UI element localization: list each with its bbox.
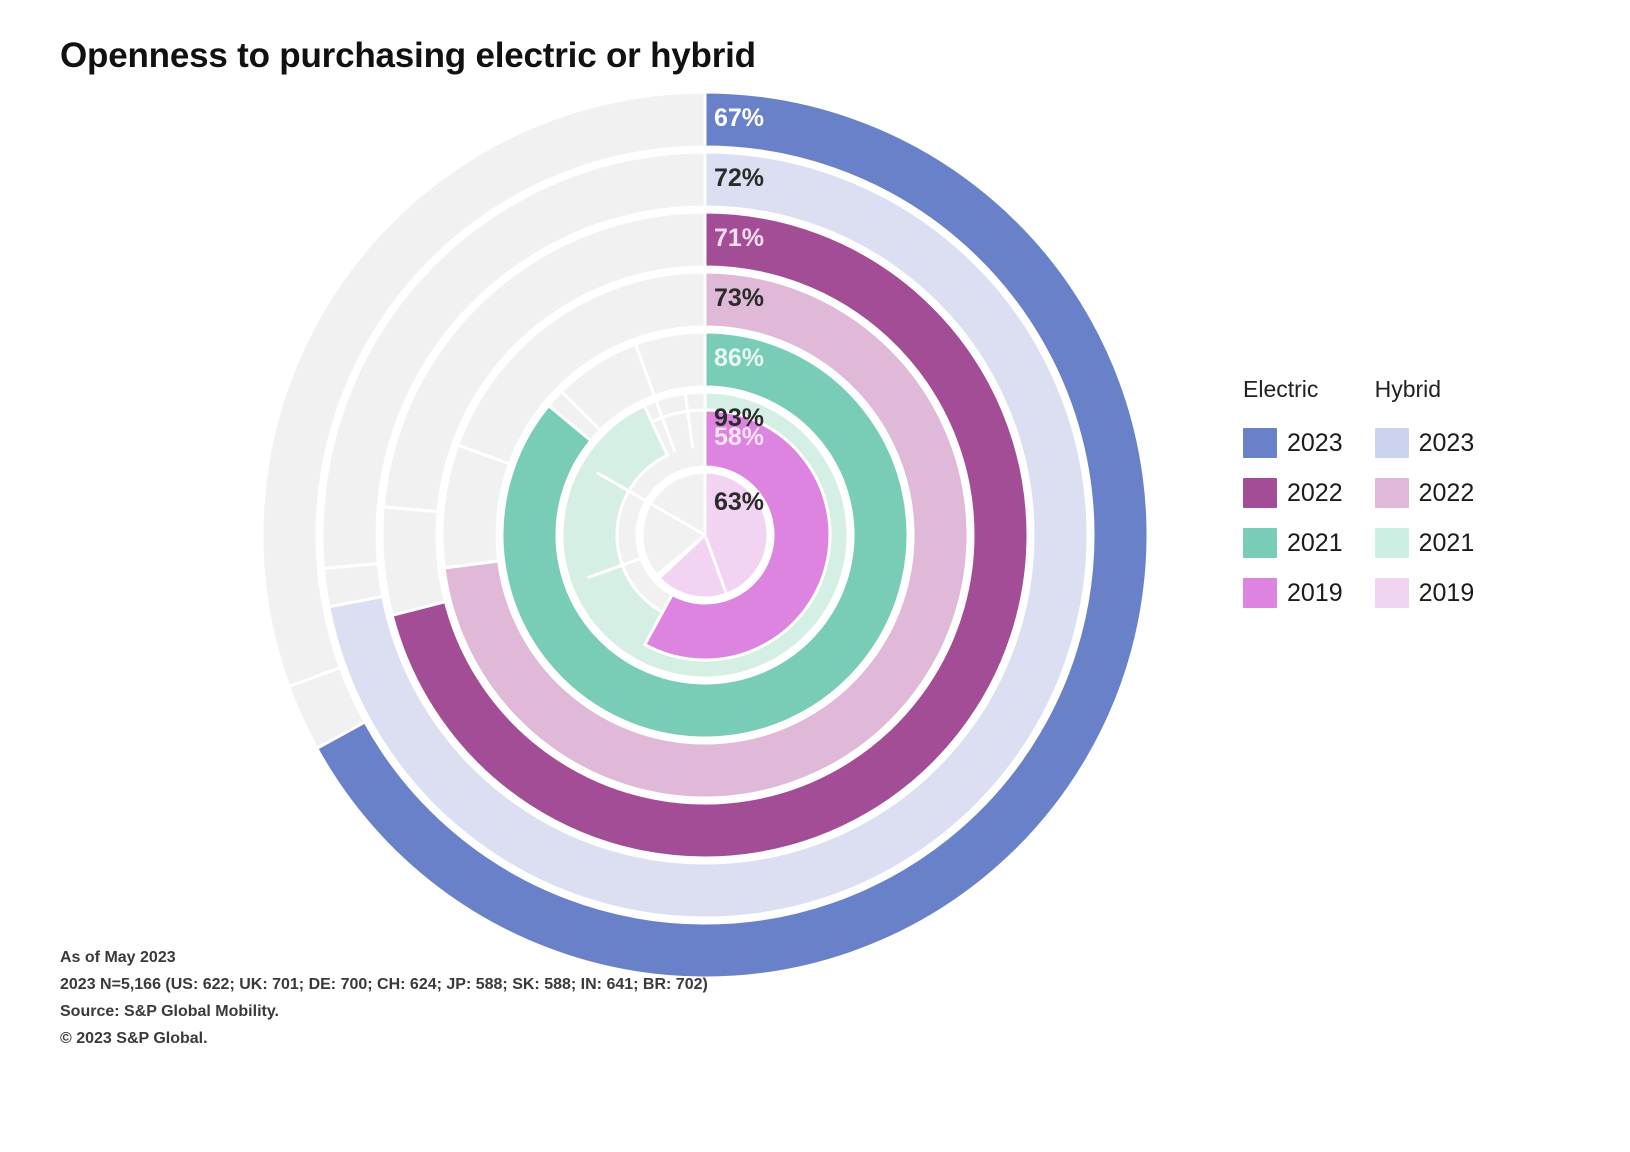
ring-data-label: 67% bbox=[714, 104, 764, 132]
legend-item[interactable]: 2021 bbox=[1375, 518, 1475, 568]
legend-item[interactable]: 2021 bbox=[1243, 518, 1343, 568]
legend-swatch-icon bbox=[1375, 528, 1409, 558]
legend-item[interactable]: 2019 bbox=[1243, 568, 1343, 618]
legend-swatch-icon bbox=[1243, 528, 1277, 558]
footnote-line: 2023 N=5,166 (US: 622; UK: 701; DE: 700;… bbox=[60, 971, 1020, 998]
legend-item-label: 2023 bbox=[1287, 429, 1343, 458]
legend-item[interactable]: 2022 bbox=[1243, 468, 1343, 518]
footnote-line: © 2023 S&P Global. bbox=[60, 1025, 1020, 1052]
legend-swatch-icon bbox=[1375, 428, 1409, 458]
footnote-line: As of May 2023 bbox=[60, 944, 1020, 971]
legend-swatch-icon bbox=[1243, 578, 1277, 608]
legend-item[interactable]: 2022 bbox=[1375, 468, 1475, 518]
legend-item-label: 2022 bbox=[1287, 479, 1343, 508]
footnote-line: Source: S&P Global Mobility. bbox=[60, 998, 1020, 1025]
legend-item-label: 2021 bbox=[1287, 529, 1343, 558]
legend-item-label: 2023 bbox=[1419, 429, 1475, 458]
legend: Electric2023202220212019Hybrid2023202220… bbox=[1243, 376, 1543, 618]
legend-item[interactable]: 2023 bbox=[1243, 418, 1343, 468]
legend-column-electric: Electric2023202220212019 bbox=[1243, 376, 1343, 618]
legend-swatch-icon bbox=[1375, 578, 1409, 608]
ring-data-label: 71% bbox=[714, 224, 764, 252]
legend-swatch-icon bbox=[1375, 478, 1409, 508]
legend-item-label: 2019 bbox=[1419, 579, 1475, 608]
legend-heading: Electric bbox=[1243, 376, 1343, 402]
footnotes: As of May 20232023 N=5,166 (US: 622; UK:… bbox=[60, 944, 1020, 1052]
radial-chart-svg: 67%72%71%73%86%93%58%63% bbox=[255, 85, 1155, 985]
ring-data-label: 86% bbox=[714, 344, 764, 372]
ring-data-label: 63% bbox=[714, 488, 764, 516]
legend-item-label: 2021 bbox=[1419, 529, 1475, 558]
legend-swatch-icon bbox=[1243, 478, 1277, 508]
legend-column-hybrid: Hybrid2023202220212019 bbox=[1375, 376, 1475, 618]
legend-item[interactable]: 2023 bbox=[1375, 418, 1475, 468]
radial-chart: 67%72%71%73%86%93%58%63% bbox=[255, 85, 1155, 985]
legend-item[interactable]: 2019 bbox=[1375, 568, 1475, 618]
ring-data-label: 72% bbox=[714, 164, 764, 192]
legend-item-label: 2019 bbox=[1287, 579, 1343, 608]
legend-columns: Electric2023202220212019Hybrid2023202220… bbox=[1243, 376, 1543, 618]
legend-item-label: 2022 bbox=[1419, 479, 1475, 508]
legend-heading: Hybrid bbox=[1375, 376, 1475, 402]
legend-swatch-icon bbox=[1243, 428, 1277, 458]
ring-data-label: 58% bbox=[714, 423, 764, 451]
page-title: Openness to purchasing electric or hybri… bbox=[60, 36, 756, 76]
ring-data-label: 73% bbox=[714, 284, 764, 312]
